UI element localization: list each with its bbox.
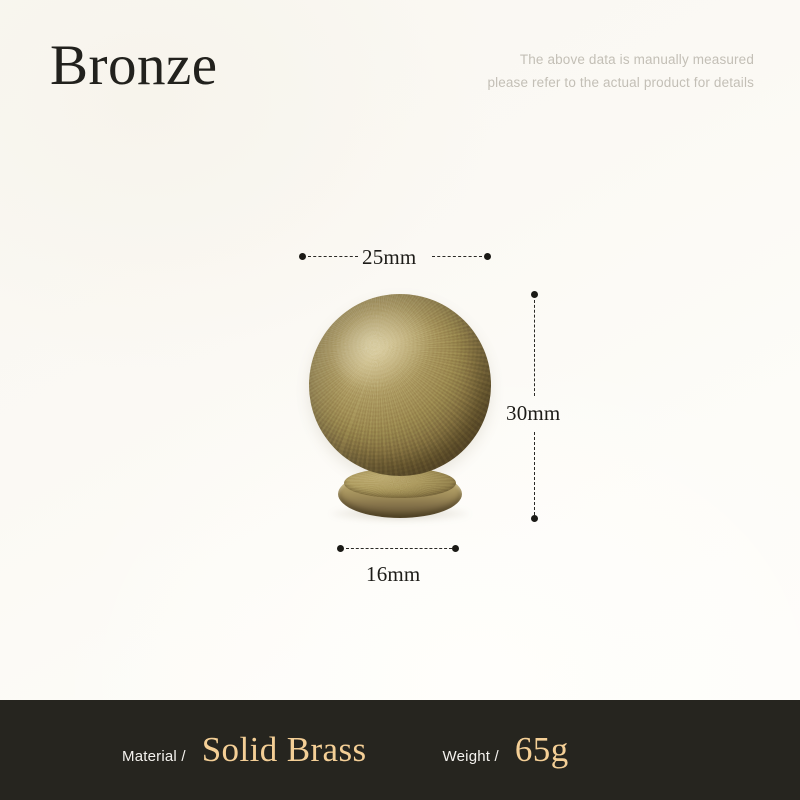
width-dim-label: 25mm xyxy=(362,245,416,270)
height-dim-line-bottom xyxy=(534,432,535,515)
base-dim-label: 16mm xyxy=(366,562,420,587)
width-dim-line-right xyxy=(432,256,482,257)
spec-weight-group: Weight / 65g xyxy=(443,730,569,770)
width-dim-line-left xyxy=(308,256,358,257)
height-dim-dot-top xyxy=(531,291,538,298)
knob-sphere-body xyxy=(309,294,491,476)
height-dim-label: 30mm xyxy=(506,401,560,426)
weight-label: Weight / xyxy=(443,748,499,765)
base-dim-dot-left xyxy=(337,545,344,552)
spec-footer-bar: Material / Solid Brass Weight / 65g xyxy=(0,700,800,800)
material-value: Solid Brass xyxy=(202,730,367,770)
page-title: Bronze xyxy=(50,36,218,96)
disclaimer-line-1: The above data is manually measured xyxy=(487,48,754,71)
width-dim-dot-left xyxy=(299,253,306,260)
width-dim-dot-right xyxy=(484,253,491,260)
sphere-shadow-rim xyxy=(309,294,491,476)
base-dim-line xyxy=(346,548,452,549)
material-label: Material / xyxy=(122,748,186,765)
product-photo-knob xyxy=(300,288,500,528)
height-dim-line-top xyxy=(534,300,535,396)
disclaimer-note: The above data is manually measured plea… xyxy=(487,48,754,94)
spec-material-group: Material / Solid Brass xyxy=(122,730,367,770)
height-dim-dot-bottom xyxy=(531,515,538,522)
weight-value: 65g xyxy=(515,730,569,770)
product-spec-page: Bronze The above data is manually measur… xyxy=(0,0,800,800)
base-dim-dot-right xyxy=(452,545,459,552)
disclaimer-line-2: please refer to the actual product for d… xyxy=(487,71,754,94)
